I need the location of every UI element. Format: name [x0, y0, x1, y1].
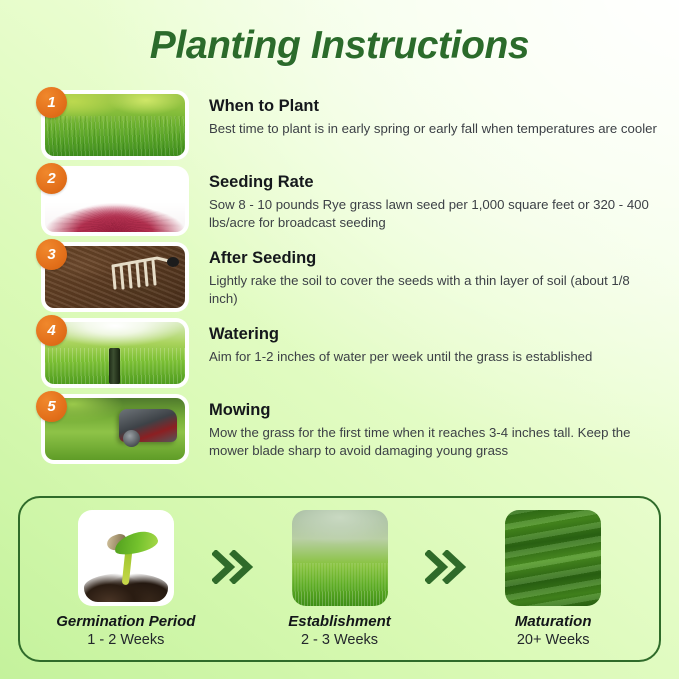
stage-duration: 20+ Weeks — [469, 632, 637, 648]
step-number-badge: 1 — [36, 87, 67, 118]
step-thumbnail-wrap: 1 — [45, 94, 193, 156]
step-title: Mowing — [209, 400, 661, 421]
step-title: Seeding Rate — [209, 172, 661, 193]
list-item: 3 After Seeding Lightly rake the soil to… — [0, 246, 679, 308]
mature-striped-lawn-photo — [505, 510, 601, 606]
step-thumbnail-wrap: 5 — [45, 398, 193, 460]
step-title: When to Plant — [209, 96, 657, 117]
list-item: 4 Watering Aim for 1-2 inches of water p… — [0, 322, 679, 384]
rake-icon — [105, 252, 179, 296]
double-chevron-right-icon — [210, 550, 256, 584]
list-item: 1 When to Plant Best time to plant is in… — [0, 94, 679, 156]
step-description: Mow the grass for the first time when it… — [209, 424, 661, 460]
double-chevron-right-icon — [423, 550, 469, 584]
young-grass-photo — [292, 510, 388, 606]
step-text: After Seeding Lightly rake the soil to c… — [209, 246, 661, 308]
step-description: Aim for 1-2 inches of water per week unt… — [209, 348, 592, 366]
step-title: Watering — [209, 324, 592, 345]
step-text: When to Plant Best time to plant is in e… — [209, 94, 657, 138]
growth-timeline-panel: Germination Period 1 - 2 Weeks Establish… — [18, 496, 661, 662]
planting-instructions-poster: Planting Instructions 1 When to Plant Be… — [0, 0, 679, 679]
step-description: Lightly rake the soil to cover the seeds… — [209, 272, 661, 308]
list-item: 5 Mowing Mow the grass for the first tim… — [0, 398, 679, 460]
stage-name: Maturation — [469, 613, 637, 630]
stage-duration: 1 - 2 Weeks — [42, 632, 210, 648]
step-thumbnail-wrap: 4 — [45, 322, 193, 384]
steps-list: 1 When to Plant Best time to plant is in… — [0, 94, 679, 474]
stage-duration: 2 - 3 Weeks — [256, 632, 424, 648]
step-thumbnail-wrap: 3 — [45, 246, 193, 308]
list-item: 2 Seeding Rate Sow 8 - 10 pounds Rye gra… — [0, 170, 679, 232]
step-number-badge: 3 — [36, 239, 67, 270]
stage-name: Establishment — [256, 613, 424, 630]
step-number-badge: 2 — [36, 163, 67, 194]
timeline-stage-establishment: Establishment 2 - 3 Weeks — [256, 510, 424, 648]
sprinkler-head-shape — [109, 348, 120, 384]
step-description: Sow 8 - 10 pounds Rye grass lawn seed pe… — [209, 196, 661, 232]
step-title: After Seeding — [209, 248, 661, 269]
timeline-stage-germination: Germination Period 1 - 2 Weeks — [42, 510, 210, 648]
step-text: Watering Aim for 1-2 inches of water per… — [209, 322, 592, 366]
seedling-sprout-photo — [78, 510, 174, 606]
mower-shape — [119, 409, 177, 441]
stage-name: Germination Period — [42, 613, 210, 630]
step-text: Seeding Rate Sow 8 - 10 pounds Rye grass… — [209, 170, 661, 232]
step-description: Best time to plant is in early spring or… — [209, 120, 657, 138]
timeline-stage-maturation: Maturation 20+ Weeks — [469, 510, 637, 648]
step-number-badge: 4 — [36, 315, 67, 346]
step-thumbnail-wrap: 2 — [45, 170, 193, 232]
page-title: Planting Instructions — [0, 24, 679, 68]
step-text: Mowing Mow the grass for the first time … — [209, 398, 661, 460]
step-number-badge: 5 — [36, 391, 67, 422]
